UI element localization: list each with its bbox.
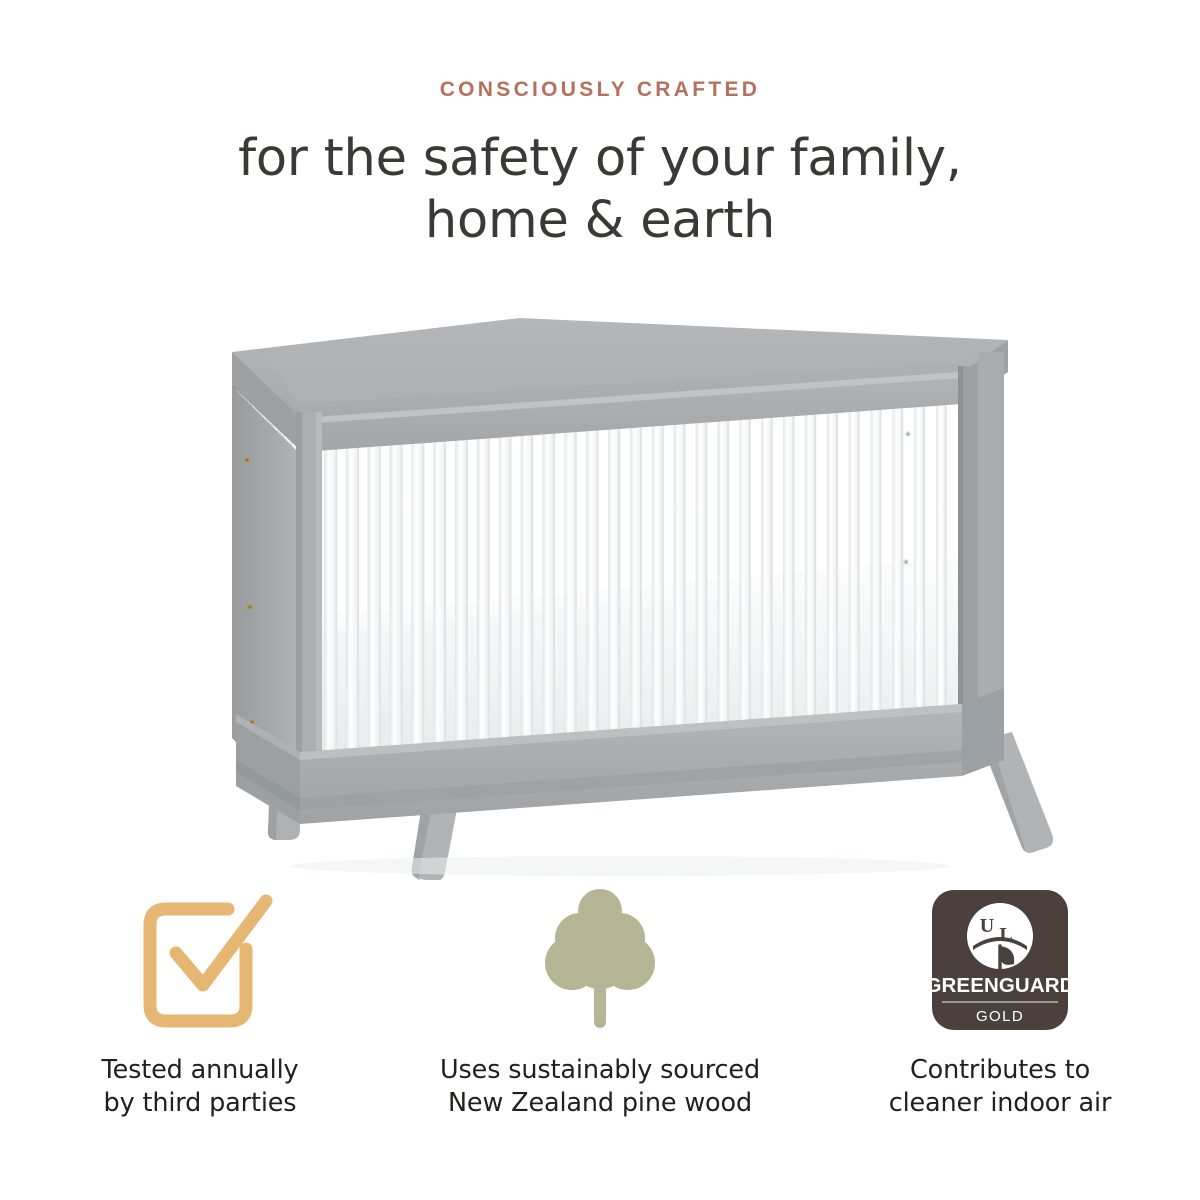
crib-slat-shade — [596, 398, 598, 750]
crib-slat-shade — [509, 404, 511, 757]
feature-caption: Tested annually by third parties — [102, 1054, 299, 1120]
headline-line-1: for the safety of your family, — [238, 129, 962, 188]
headline-line-2: home & earth — [0, 190, 1200, 252]
screw-slot-icon — [248, 605, 251, 608]
crib-slat-shade — [836, 381, 838, 729]
crib-slat-shade — [531, 403, 533, 756]
crib-post-front-left — [296, 412, 322, 776]
eyebrow-text: CONSCIOUSLY CRAFTED — [0, 78, 1200, 102]
post-left-face — [232, 386, 296, 774]
crib-slat-shade — [422, 410, 424, 764]
feature-caption-line-2: by third parties — [102, 1087, 299, 1120]
ul-l-letter: L — [999, 924, 1012, 946]
screw-slot-icon — [245, 458, 248, 461]
crib-slat-shade — [553, 401, 555, 753]
ul-u-letter: U — [980, 915, 994, 937]
feature-caption-line-1: Tested annually — [102, 1054, 299, 1087]
tree-icon — [544, 885, 656, 1035]
feature-sustainable-wood: Uses sustainably sourced New Zealand pin… — [400, 880, 800, 1140]
crib-slat-shade — [575, 400, 577, 752]
feature-caption: Contributes to cleaner indoor air — [889, 1054, 1112, 1120]
crib-slat-shade — [662, 393, 664, 744]
page-title: for the safety of your family, home & ea… — [0, 128, 1200, 252]
screw-slot-icon — [905, 561, 907, 563]
promo-page: CONSCIOUSLY CRAFTED for the safety of yo… — [0, 0, 1200, 1200]
product-image-crib — [0, 300, 1200, 880]
crib-slat-shade — [945, 374, 947, 720]
crib-slat-shade — [335, 416, 337, 772]
crib-shadow — [290, 856, 950, 876]
checkbox-check-icon — [124, 889, 276, 1031]
badge-brand-text: GREENGUARD — [930, 974, 1070, 997]
crib-post-left — [232, 386, 296, 774]
ul-mark-icon: U L — [967, 903, 1033, 980]
feature-caption: Uses sustainably sourced New Zealand pin… — [440, 1054, 760, 1120]
feature-caption-line-2: New Zealand pine wood — [440, 1087, 760, 1120]
crib-slat-shade — [466, 407, 468, 761]
crib-slat — [324, 416, 337, 772]
crib-slat-shade — [705, 390, 707, 740]
crib-slat-shade — [684, 392, 686, 742]
badge-tier-text: GOLD — [976, 1008, 1024, 1025]
screw-slot-icon — [907, 433, 909, 435]
crib-slat-shade — [640, 395, 642, 746]
crib-slat-shade — [749, 387, 751, 736]
crib-slat-shade — [792, 384, 794, 733]
greenguard-gold-badge-icon: U L GREENGUARD GOLD — [930, 888, 1070, 1032]
checkbox-check-icon-wrap — [0, 880, 400, 1040]
feature-caption-line-2: cleaner indoor air — [889, 1087, 1112, 1120]
crib-slat-shade — [771, 386, 773, 735]
tree-icon-wrap — [400, 880, 800, 1040]
greenguard-gold-badge-icon-wrap: U L GREENGUARD GOLD — [800, 880, 1200, 1040]
crib-slat-shade — [357, 415, 359, 770]
crib-slat-shade — [858, 380, 860, 728]
crib-slat-shade — [727, 389, 729, 739]
feature-tested-annually: Tested annually by third parties — [0, 880, 400, 1140]
crib-slat-shade — [488, 406, 490, 759]
feature-row: Tested annually by third parties — [0, 880, 1200, 1140]
crib-slat-shade — [901, 377, 903, 724]
feature-clean-indoor-air: U L GREENGUARD GOLD Contributes to — [800, 880, 1200, 1140]
crib-slat-shade — [379, 413, 381, 768]
feature-caption-line-1: Uses sustainably sourced — [440, 1054, 760, 1087]
crib-slat-shade — [879, 378, 881, 725]
crib-slat-shade — [814, 383, 816, 731]
crib-slat-shade — [923, 375, 925, 722]
crib-slat-shade — [444, 409, 446, 763]
crib-illustration — [0, 300, 1200, 880]
crib-slat-shade — [401, 412, 403, 767]
feature-caption-line-1: Contributes to — [889, 1054, 1112, 1087]
crib-slat-shade — [618, 397, 620, 748]
